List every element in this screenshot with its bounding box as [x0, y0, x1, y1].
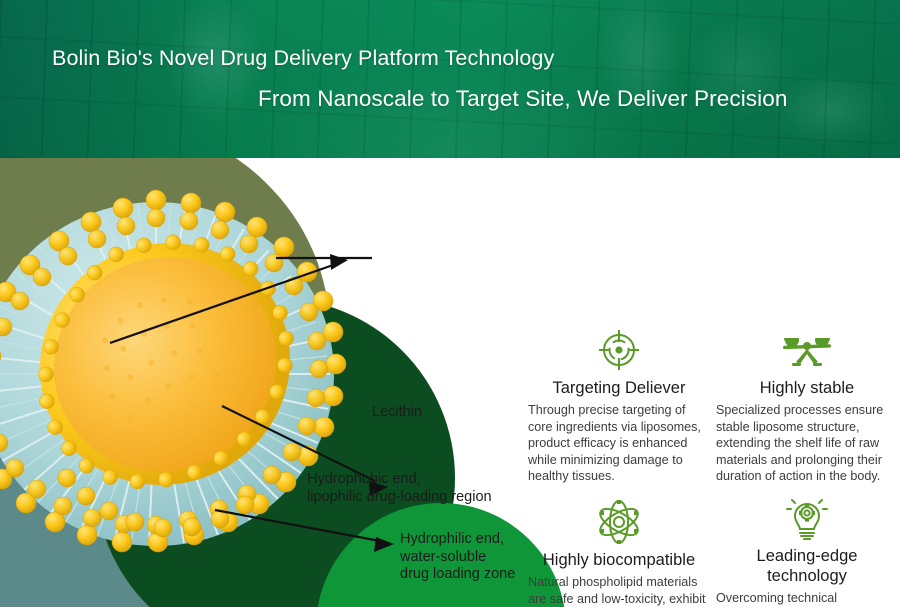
- feature-targeting-deliever: Targeting Deliever Through precise targe…: [528, 326, 710, 485]
- main-stage: Lecithin Hydrophobic end, lipophilic dru…: [0, 158, 900, 607]
- atom-icon: [591, 498, 647, 546]
- feature-leading-edge-technology: Leading-edge technology Overcoming techn…: [716, 494, 898, 607]
- infographic-page: Bolin Bio's Novel Drug Delivery Platform…: [0, 0, 900, 607]
- feature-title: Targeting Deliever: [528, 378, 710, 398]
- liposome-illustration: [0, 178, 370, 568]
- green-overlay-tint: [0, 0, 900, 158]
- banner-title: Bolin Bio's Novel Drug Delivery Platform…: [52, 46, 554, 71]
- feature-body: Overcoming technical challenges in nanoc…: [716, 590, 898, 607]
- feature-body: Specialized processes ensure stable lipo…: [716, 402, 898, 485]
- feature-highly-biocompatible: Highly biocompatible Natural phospholipi…: [528, 498, 710, 607]
- target-crosshair-icon: [591, 326, 647, 374]
- feature-title: Highly biocompatible: [528, 550, 710, 570]
- header-banner: Bolin Bio's Novel Drug Delivery Platform…: [0, 0, 900, 158]
- banner-subtitle: From Nanoscale to Target Site, We Delive…: [258, 86, 787, 112]
- feature-highly-stable: Highly stable Specialized processes ensu…: [716, 326, 898, 485]
- balance-scale-icon: [779, 326, 835, 374]
- feature-title: Highly stable: [716, 378, 898, 398]
- feature-list: Targeting Deliever Through precise targe…: [520, 326, 900, 607]
- feature-title: Leading-edge technology: [716, 546, 898, 586]
- feature-body: Through precise targeting of core ingred…: [528, 402, 710, 485]
- feature-body: Natural phospholipid materials are safe …: [528, 574, 710, 607]
- lightbulb-gear-icon: [779, 494, 835, 542]
